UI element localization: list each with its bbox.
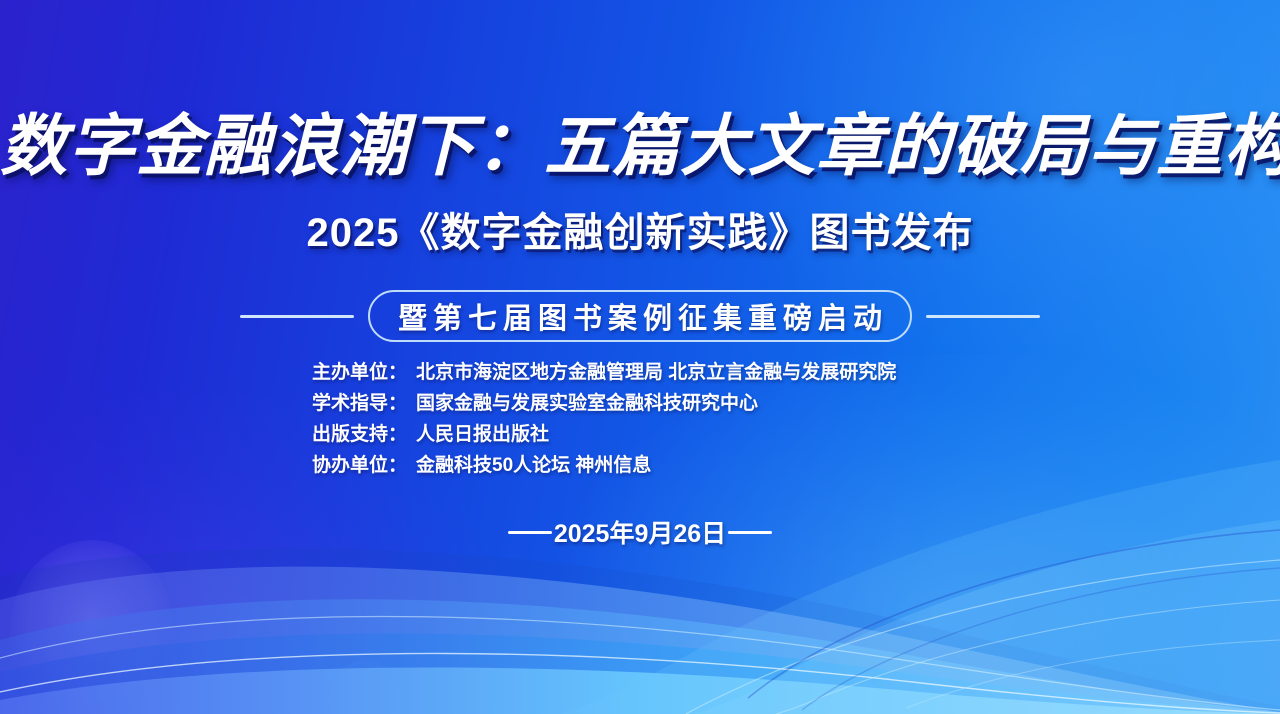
highlight-banner-text: 暨第七届图书案例征集重磅启动: [392, 295, 888, 337]
highlight-banner-row: 暨第七届图书案例征集重磅启动: [0, 288, 1280, 344]
organizer-value: 北京市海淀区地方金融管理局 北京立言金融与发展研究院: [416, 357, 896, 388]
organizer-row: 出版支持： 人民日报出版社: [312, 419, 896, 450]
page-subtitle: 2025《数字金融创新实践》图书发布: [0, 207, 1280, 259]
organizer-list: 主办单位： 北京市海淀区地方金融管理局 北京立言金融与发展研究院 学术指导： 国…: [312, 357, 896, 481]
rule-right: [926, 315, 1040, 318]
organizer-row: 主办单位： 北京市海淀区地方金融管理局 北京立言金融与发展研究院: [312, 357, 896, 388]
date-dash-right: [728, 531, 772, 534]
date-dash-left: [508, 531, 552, 534]
organizer-value: 金融科技50人论坛 神州信息: [416, 450, 651, 481]
organizer-value: 国家金融与发展实验室金融科技研究中心: [416, 388, 758, 419]
organizer-row: 学术指导： 国家金融与发展实验室金融科技研究中心: [312, 388, 896, 419]
highlight-banner-pill: 暨第七届图书案例征集重磅启动: [368, 290, 912, 342]
event-date: 2025年9月26日: [552, 514, 728, 550]
organizer-value: 人民日报出版社: [416, 419, 549, 450]
event-date-row: 2025年9月26日: [0, 514, 1280, 550]
rule-left: [240, 315, 354, 318]
organizer-label: 学术指导：: [312, 388, 408, 419]
organizer-label: 出版支持：: [312, 419, 408, 450]
organizer-row: 协办单位： 金融科技50人论坛 神州信息: [312, 450, 896, 481]
poster-content: 数字金融浪潮下：五篇大文章的破局与重构 2025《数字金融创新实践》图书发布 暨…: [0, 0, 1280, 714]
poster-canvas: 数字金融浪潮下：五篇大文章的破局与重构 2025《数字金融创新实践》图书发布 暨…: [0, 0, 1280, 714]
page-title: 数字金融浪潮下：五篇大文章的破局与重构: [0, 104, 1280, 190]
organizer-label: 主办单位：: [312, 357, 408, 388]
organizer-label: 协办单位：: [312, 450, 408, 481]
